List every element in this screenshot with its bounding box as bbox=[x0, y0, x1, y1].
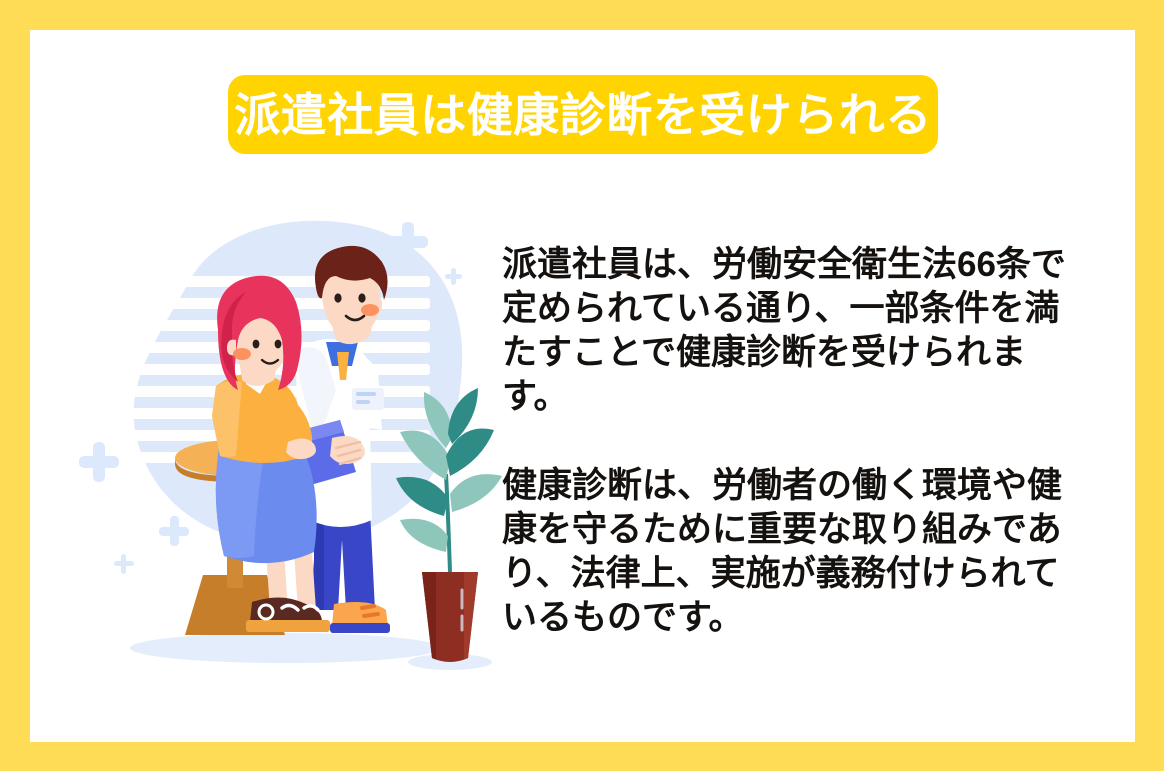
page-title: 派遣社員は健康診断を受けられる bbox=[234, 92, 932, 138]
plus-icon-small-top-right bbox=[445, 268, 462, 285]
page-frame: 派遣社員は健康診断を受けられる bbox=[0, 0, 1164, 771]
body-text-column: 派遣社員は、労働安全衛生法66条で定められている通り、一部条件を満たすことで健康… bbox=[502, 243, 1082, 640]
content-card: 派遣社員は健康診断を受けられる bbox=[30, 30, 1135, 742]
title-banner: 派遣社員は健康診断を受けられる bbox=[228, 75, 938, 154]
patient-head bbox=[217, 276, 301, 390]
body-paragraph-2: 健康診断は、労働者の働く環境や健康を守るために重要な取り組みであり、法律上、実施… bbox=[502, 464, 1082, 640]
doctor-shoes bbox=[330, 602, 390, 633]
plus-icon-large-left bbox=[79, 442, 119, 482]
illustration-doctor-and-patient bbox=[70, 180, 520, 680]
plus-icon-medium-lower-left bbox=[159, 516, 189, 546]
body-paragraph-1: 派遣社員は、労働安全衛生法66条で定められている通り、一部条件を満たすことで健康… bbox=[502, 243, 1082, 419]
plus-icon-small-lower-left bbox=[114, 554, 134, 574]
